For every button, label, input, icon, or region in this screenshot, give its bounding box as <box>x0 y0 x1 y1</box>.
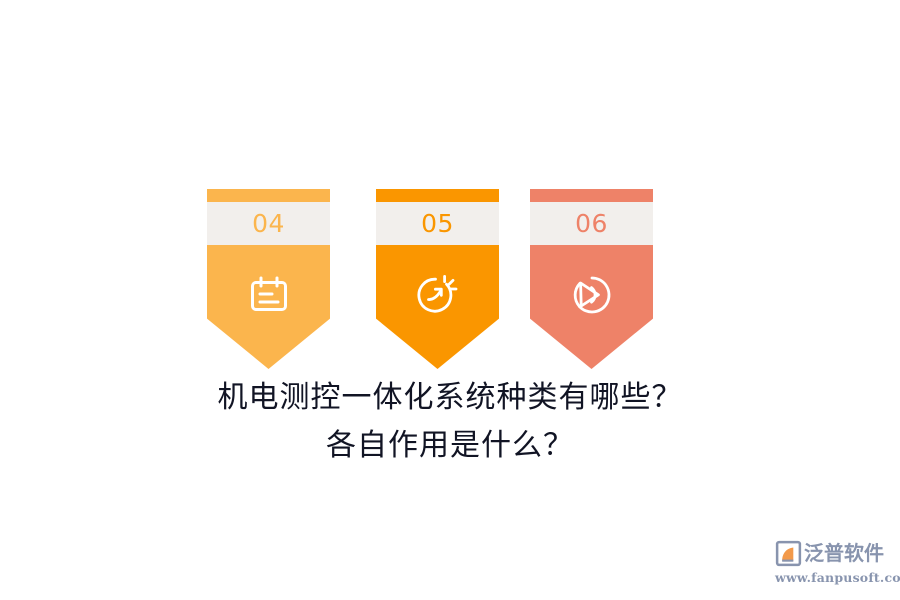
banner-card-05[interactable]: 05 <box>376 189 499 369</box>
calendar-note-icon <box>207 267 330 323</box>
number-band-06: 06 <box>530 202 653 245</box>
page-title-line-2: 各自作用是什么？ <box>0 422 900 470</box>
slide-canvas: 04 05 <box>0 0 900 600</box>
page-title: 机电测控一体化系统种类有哪些？ 各自作用是什么？ <box>0 374 900 470</box>
fanpu-brand-mark-icon <box>775 540 802 567</box>
fast-forward-circle-icon <box>530 267 653 323</box>
growth-arrow-circle-icon <box>376 267 499 323</box>
watermark-brand-name: 泛普软件 <box>804 543 884 563</box>
number-band-05: 05 <box>376 202 499 245</box>
banner-number-06: 06 <box>575 211 608 236</box>
watermark-top-row: 泛普软件 <box>775 538 887 568</box>
banner-number-05: 05 <box>421 211 454 236</box>
watermark-logo: 泛普软件 www.fanpusoft.com <box>775 538 887 586</box>
banner-card-04[interactable]: 04 <box>207 189 330 369</box>
number-band-04: 04 <box>207 202 330 245</box>
page-title-line-1: 机电测控一体化系统种类有哪些？ <box>0 374 900 422</box>
banner-row: 04 05 <box>0 189 900 371</box>
watermark-url: www.fanpusoft.com <box>775 570 887 585</box>
banner-number-04: 04 <box>252 211 285 236</box>
banner-card-06[interactable]: 06 <box>530 189 653 369</box>
